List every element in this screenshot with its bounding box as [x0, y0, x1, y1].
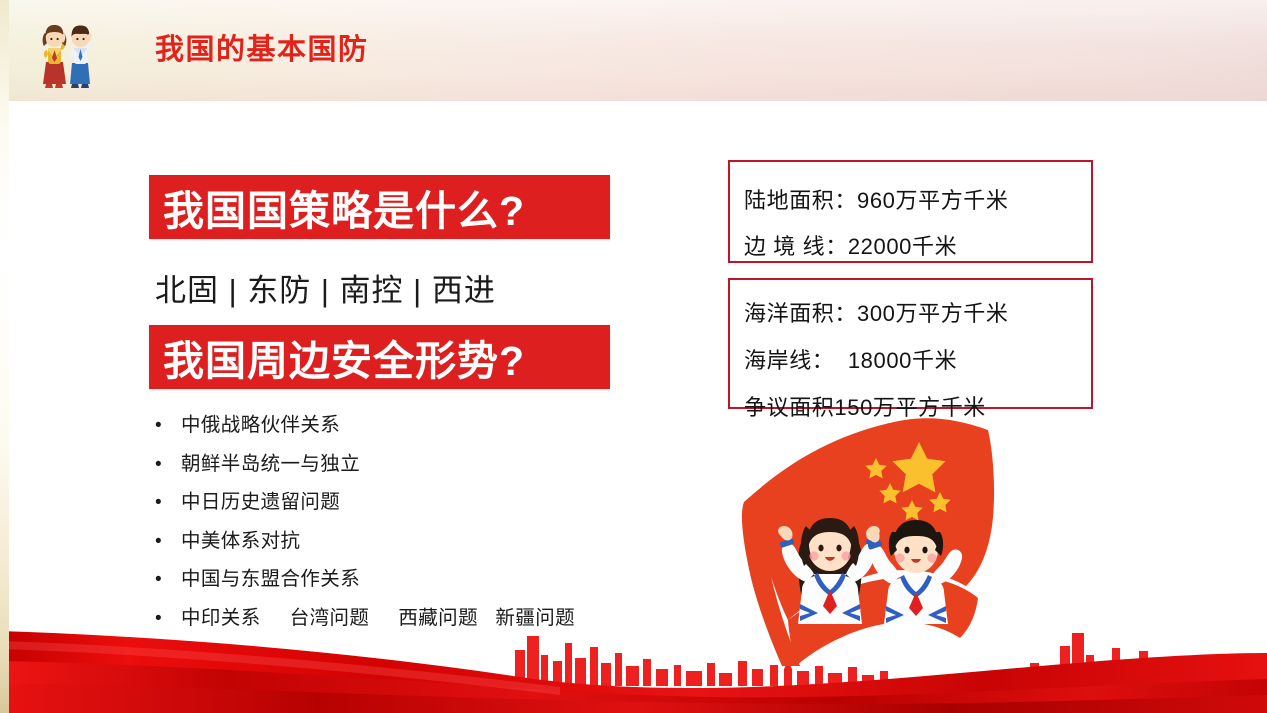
- heading-banner-security: 我国周边安全形势?: [149, 325, 610, 389]
- security-issues-list: • 中俄战略伙伴关系 • 朝鲜半岛统一与独立 • 中日历史遗留问题 • 中美体系…: [155, 408, 715, 639]
- list-item-label: 中俄战略伙伴关系: [181, 408, 340, 437]
- slide-canvas: 我国的基本国防 我国国策略是什么? 北固 | 东防 | 南控 | 西进 我国周边…: [0, 0, 1267, 713]
- bullet-dot-icon: •: [155, 416, 181, 435]
- heading-banner-policy: 我国国策略是什么?: [149, 175, 610, 239]
- policy-directions-line: 北固 | 东防 | 南控 | 西进: [155, 265, 496, 310]
- list-item: • 中国与东盟合作关系: [155, 562, 715, 601]
- ribbon-band-top: [0, 631, 1267, 713]
- stat-sea-area: 海洋面积：300万平方千米: [744, 280, 1091, 328]
- stat-land-area: 陆地面积：960万平方千米: [744, 162, 1091, 215]
- list-item-label: 中日历史遗留问题: [181, 485, 340, 514]
- chinese-flag-with-children-illustration: [726, 414, 1016, 676]
- list-item-label: 中印关系 台湾问题 西藏问题 新疆问题: [181, 601, 575, 630]
- stat-border-length: 边 境 线：22000千米: [744, 215, 1091, 261]
- bullet-dot-icon: •: [155, 570, 181, 589]
- stat-coastline-length: 海岸线： 18000千米: [744, 328, 1091, 375]
- left-edge-strip: [0, 0, 9, 713]
- list-item: • 朝鲜半岛统一与独立: [155, 447, 715, 486]
- list-item: • 中印关系 台湾问题 西藏问题 新疆问题: [155, 601, 715, 640]
- ribbon-band-middle: [0, 661, 1267, 713]
- bullet-dot-icon: •: [155, 532, 181, 551]
- list-item: • 中俄战略伙伴关系: [155, 408, 715, 447]
- bullet-dot-icon: •: [155, 609, 181, 628]
- list-item-label: 朝鲜半岛统一与独立: [181, 447, 360, 476]
- list-item: • 中美体系对抗: [155, 524, 715, 563]
- bullet-dot-icon: •: [155, 493, 181, 512]
- stat-box-land: 陆地面积：960万平方千米 边 境 线：22000千米: [728, 160, 1093, 263]
- bullet-dot-icon: •: [155, 455, 181, 474]
- ribbon-band-bottom: [0, 683, 1267, 713]
- list-item: • 中日历史遗留问题: [155, 485, 715, 524]
- stat-box-sea: 海洋面积：300万平方千米 海岸线： 18000千米 争议面积150万平方千米: [728, 278, 1093, 409]
- list-item-label: 中国与东盟合作关系: [181, 562, 360, 591]
- slide-header: 我国的基本国防: [0, 0, 1267, 101]
- ribbon-sheen: [0, 641, 560, 695]
- list-item-label: 中美体系对抗: [181, 524, 300, 553]
- page-title: 我国的基本国防: [155, 26, 369, 68]
- two-children-saluting-icon: [34, 22, 106, 92]
